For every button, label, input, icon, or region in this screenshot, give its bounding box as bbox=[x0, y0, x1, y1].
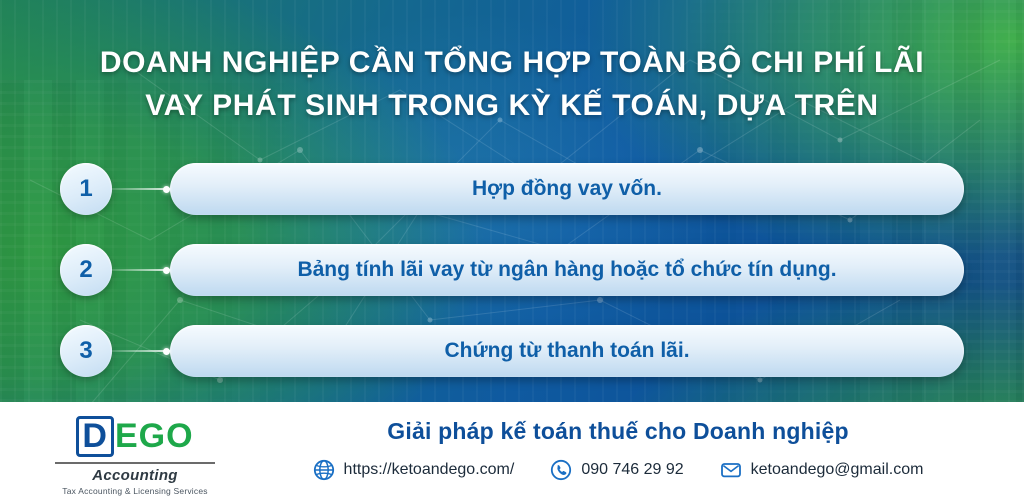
footer-contact-list: https://ketoandego.com/ 090 746 29 92 bbox=[232, 459, 1004, 481]
phone-icon bbox=[550, 459, 572, 481]
list-item: 1 Hợp đồng vay vốn. bbox=[60, 163, 964, 215]
step-label-pill-1: Hợp đồng vay vốn. bbox=[170, 163, 964, 215]
mail-icon bbox=[720, 459, 742, 481]
contact-email-text: ketoandego@gmail.com bbox=[751, 461, 924, 479]
logo-word-rest: EGO bbox=[115, 417, 194, 455]
logo-wordmark: DEGO bbox=[76, 416, 193, 457]
infographic-canvas: DOANH NGHIỆP CẦN TỔNG HỢP TOÀN BỘ CHI PH… bbox=[0, 0, 1024, 500]
contact-email[interactable]: ketoandego@gmail.com bbox=[720, 459, 924, 481]
globe-icon bbox=[313, 459, 335, 481]
step-label-pill-3: Chứng từ thanh toán lãi. bbox=[170, 325, 964, 377]
page-title: DOANH NGHIỆP CẦN TỔNG HỢP TOÀN BỘ CHI PH… bbox=[0, 42, 1024, 127]
step-connector-1 bbox=[112, 188, 170, 190]
logo-tagline: Tax Accounting & Licensing Services bbox=[55, 486, 215, 496]
footer-bar: DEGO Accounting Tax Accounting & Licensi… bbox=[0, 402, 1024, 500]
logo-subtitle: Accounting bbox=[55, 462, 215, 484]
list-item: 3 Chứng từ thanh toán lãi. bbox=[60, 325, 964, 377]
footer-content: Giải pháp kế toán thuế cho Doanh nghiệp bbox=[232, 418, 1004, 481]
step-label-pill-2: Bảng tính lãi vay từ ngân hàng hoặc tổ c… bbox=[170, 244, 964, 296]
step-number-badge-3: 3 bbox=[60, 325, 112, 377]
contact-website-text: https://ketoandego.com/ bbox=[344, 461, 515, 479]
contact-website[interactable]: https://ketoandego.com/ bbox=[313, 459, 515, 481]
step-number-badge-2: 2 bbox=[60, 244, 112, 296]
contact-phone[interactable]: 090 746 29 92 bbox=[550, 459, 683, 481]
contact-phone-text: 090 746 29 92 bbox=[581, 461, 683, 479]
step-connector-2 bbox=[112, 269, 170, 271]
page-title-line-2: VAY PHÁT SINH TRONG KỲ KẾ TOÁN, DỰA TRÊN bbox=[60, 85, 964, 128]
footer-headline: Giải pháp kế toán thuế cho Doanh nghiệp bbox=[232, 418, 1004, 445]
steps-list: 1 Hợp đồng vay vốn. 2 Bảng tính lãi vay … bbox=[60, 163, 964, 377]
step-connector-3 bbox=[112, 350, 170, 352]
list-item: 2 Bảng tính lãi vay từ ngân hàng hoặc tổ… bbox=[60, 244, 964, 296]
logo-letter-d: D bbox=[76, 416, 114, 457]
step-number-badge-1: 1 bbox=[60, 163, 112, 215]
page-title-line-1: DOANH NGHIỆP CẦN TỔNG HỢP TOÀN BỘ CHI PH… bbox=[60, 42, 964, 85]
brand-logo[interactable]: DEGO Accounting Tax Accounting & Licensi… bbox=[55, 416, 215, 496]
